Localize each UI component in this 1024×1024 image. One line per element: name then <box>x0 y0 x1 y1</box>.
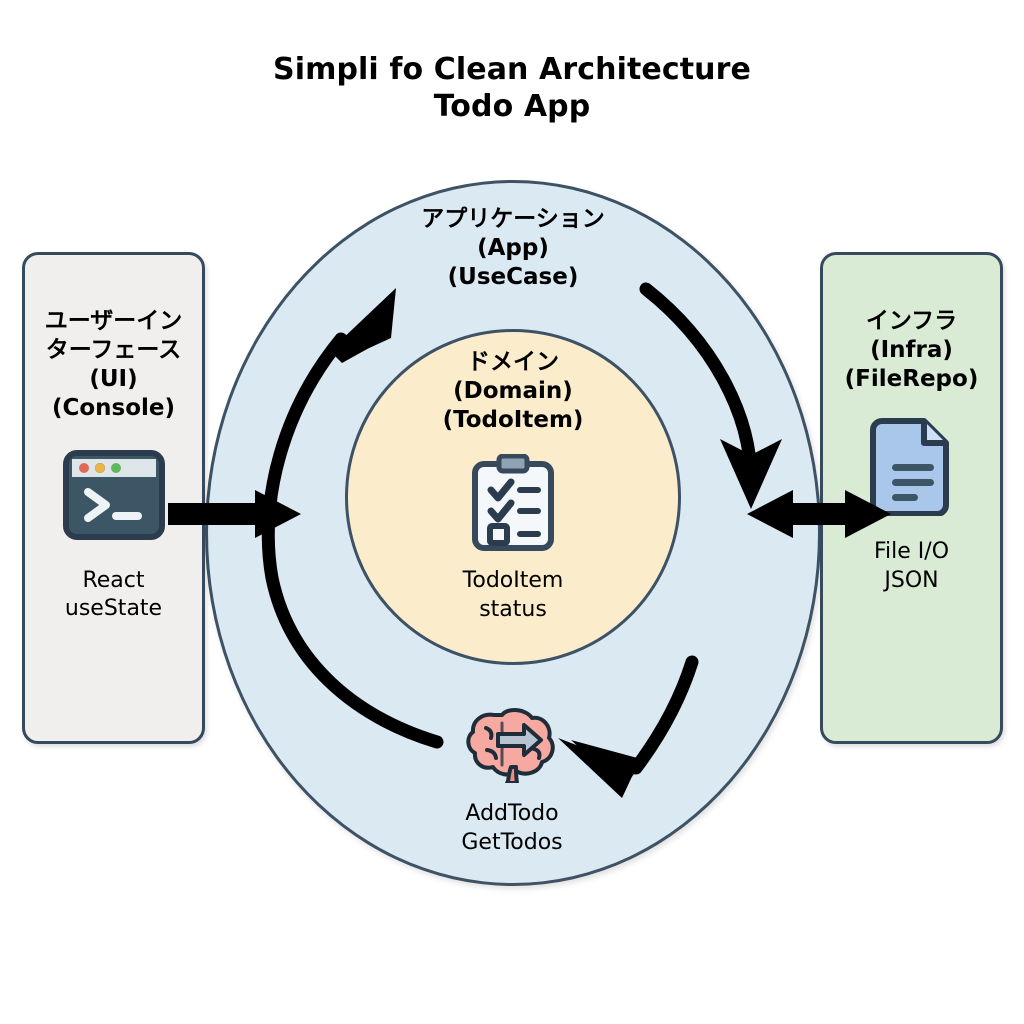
infra-title-en: (Infra) <box>827 336 996 365</box>
layer-infra-panel: インフラ (Infra) (FileRepo) File I/O JSON <box>820 252 1003 744</box>
domain-title-ja: ドメイン <box>348 348 678 377</box>
layer-ui-panel: ユーザーイン ターフェース (UI) (Console) React <box>22 252 205 744</box>
domain-caption: TodoItem status <box>348 567 678 624</box>
domain-caption-line-2: status <box>348 596 678 625</box>
ui-layer-title: ユーザーイン ターフェース (UI) (Console) <box>25 307 202 423</box>
domain-icon-container <box>348 454 678 556</box>
title-line-2: Todo App <box>0 89 1024 126</box>
infra-caption-line-2: JSON <box>874 567 949 596</box>
ui-icon-container <box>62 447 166 547</box>
architecture-diagram: Simpli fo Clean Architecture Todo App アプ… <box>0 0 1024 1024</box>
domain-layer-title: ドメイン (Domain) (TodoItem) <box>348 348 678 436</box>
application-title-impl: (UseCase) <box>208 263 818 292</box>
infra-layer-title: インフラ (Infra) (FileRepo) <box>823 307 1000 394</box>
title-line-1: Simpli fo Clean Architecture <box>0 52 1024 89</box>
application-caption-line-2: GetTodos <box>312 829 712 858</box>
ui-title-ja-2: ターフェース <box>29 336 198 365</box>
domain-caption-line-1: TodoItem <box>348 567 678 596</box>
clipboard-checklist-icon <box>469 454 557 556</box>
infra-title-impl: (FileRepo) <box>827 365 996 394</box>
application-caption: AddTodo GetTodos <box>312 800 712 857</box>
ui-title-impl: (Console) <box>29 394 198 423</box>
domain-title-en: (Domain) <box>348 377 678 406</box>
application-layer-title: アプリケーション (App) (UseCase) <box>208 205 818 293</box>
page-title: Simpli fo Clean Architecture Todo App <box>0 52 1024 125</box>
ui-title-ja-1: ユーザーイン <box>29 307 198 336</box>
ui-title-en: (UI) <box>29 365 198 394</box>
infra-icon-container <box>870 418 954 518</box>
infra-caption-line-1: File I/O <box>874 538 949 567</box>
application-icon-container <box>462 705 562 787</box>
domain-title-impl: (TodoItem) <box>348 406 678 435</box>
layer-domain-ring: ドメイン (Domain) (TodoItem) TodoItem <box>345 329 681 665</box>
infra-title-ja: インフラ <box>827 307 996 336</box>
application-title-en: (App) <box>208 234 818 263</box>
infra-caption: File I/O JSON <box>874 538 949 595</box>
terminal-icon <box>62 447 166 547</box>
ui-caption-line-2: useState <box>65 595 162 624</box>
document-icon <box>870 416 954 520</box>
ui-caption-line-1: React <box>65 567 162 596</box>
application-caption-line-1: AddTodo <box>312 800 712 829</box>
brain-icon <box>464 705 560 787</box>
ui-caption: React useState <box>65 567 162 624</box>
application-title-ja: アプリケーション <box>208 205 818 234</box>
